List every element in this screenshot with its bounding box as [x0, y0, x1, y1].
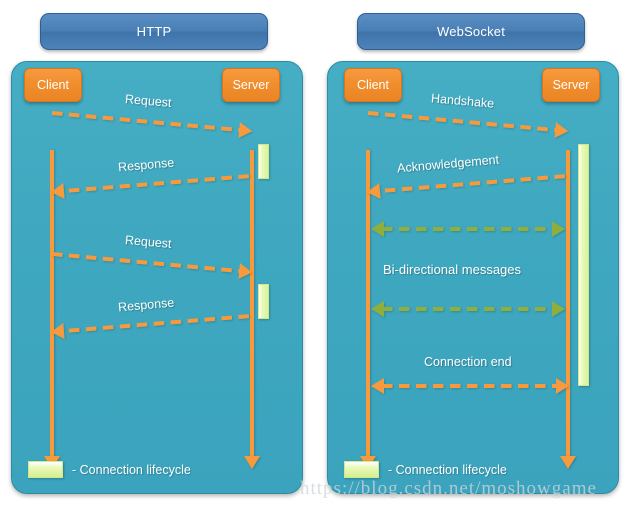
lifeline-server-arrowhead — [244, 456, 260, 469]
actor-label: Server — [233, 78, 270, 92]
message-arrow-response-2 — [52, 314, 252, 334]
message-arrow-request-1 — [52, 111, 252, 133]
actor-label: Client — [37, 78, 69, 92]
lifecycle-bar-1 — [258, 144, 269, 179]
message-label-acknowledgement: Acknowledgement — [397, 153, 500, 176]
arrow-shaft — [52, 174, 252, 194]
panel-title-http: HTTP — [40, 13, 268, 50]
message-arrow-bidirectional-2 — [372, 307, 564, 311]
actor-box-server-websocket[interactable]: Server — [542, 68, 600, 102]
legend-label: - Connection lifecycle — [388, 463, 507, 477]
arrow-head-left — [371, 301, 384, 317]
arrow-head-right — [239, 263, 253, 280]
legend-label: - Connection lifecycle — [72, 463, 191, 477]
message-arrow-connection-end — [372, 384, 568, 388]
message-label-response-2: Response — [117, 296, 174, 315]
lifeline-server — [566, 150, 570, 460]
lifeline-server-arrowhead — [560, 456, 576, 469]
arrow-shaft — [382, 384, 558, 388]
actor-label: Client — [357, 78, 389, 92]
arrow-shaft — [368, 174, 568, 194]
arrow-head-right — [552, 221, 565, 237]
arrow-shaft — [368, 111, 568, 133]
message-arrow-acknowledgement — [368, 174, 568, 194]
legend-websocket: - Connection lifecycle — [344, 461, 507, 478]
lifecycle-bar-2 — [258, 284, 269, 319]
actor-box-server-http[interactable]: Server — [222, 68, 280, 102]
arrow-head-left — [50, 183, 64, 200]
panel-title-label: HTTP — [137, 24, 172, 39]
lifecycle-bar-websocket — [578, 144, 589, 386]
arrow-head-right — [239, 122, 253, 139]
arrow-head-right — [556, 378, 569, 394]
arrow-head-right — [555, 122, 569, 139]
message-label-response-1: Response — [117, 156, 174, 175]
sequence-panel-http: Request Response Request Response — [11, 61, 303, 494]
message-arrow-handshake — [368, 111, 568, 133]
actor-box-client-websocket[interactable]: Client — [344, 68, 402, 102]
message-label-request-2: Request — [124, 233, 172, 251]
sequence-panel-websocket: Handshake Acknowledgement Bi-directional… — [327, 61, 619, 494]
arrow-head-left — [50, 323, 64, 340]
actor-box-client-http[interactable]: Client — [24, 68, 82, 102]
message-label-request-1: Request — [124, 92, 172, 110]
arrow-shaft — [52, 314, 252, 334]
arrow-head-left — [371, 221, 384, 237]
message-label-bidirectional: Bi-directional messages — [383, 262, 521, 277]
lifeline-server — [250, 150, 254, 460]
arrow-shaft — [382, 307, 554, 311]
message-label-handshake: Handshake — [431, 91, 495, 110]
message-label-connection-end: Connection end — [424, 355, 512, 369]
panel-title-websocket: WebSocket — [357, 13, 585, 50]
legend-swatch-icon — [344, 461, 379, 478]
legend-swatch-icon — [28, 461, 63, 478]
panel-title-label: WebSocket — [437, 24, 505, 39]
message-arrow-request-2 — [52, 252, 252, 274]
arrow-shaft — [52, 252, 252, 274]
arrow-shaft — [52, 111, 252, 133]
message-arrow-response-1 — [52, 174, 252, 194]
arrow-head-left — [366, 183, 380, 200]
actor-label: Server — [553, 78, 590, 92]
arrow-shaft — [382, 227, 554, 231]
arrow-head-left — [371, 378, 384, 394]
diagram-canvas: HTTP Request Response — [0, 0, 628, 511]
arrow-head-right — [552, 301, 565, 317]
legend-http: - Connection lifecycle — [28, 461, 191, 478]
message-arrow-bidirectional-1 — [372, 227, 564, 231]
